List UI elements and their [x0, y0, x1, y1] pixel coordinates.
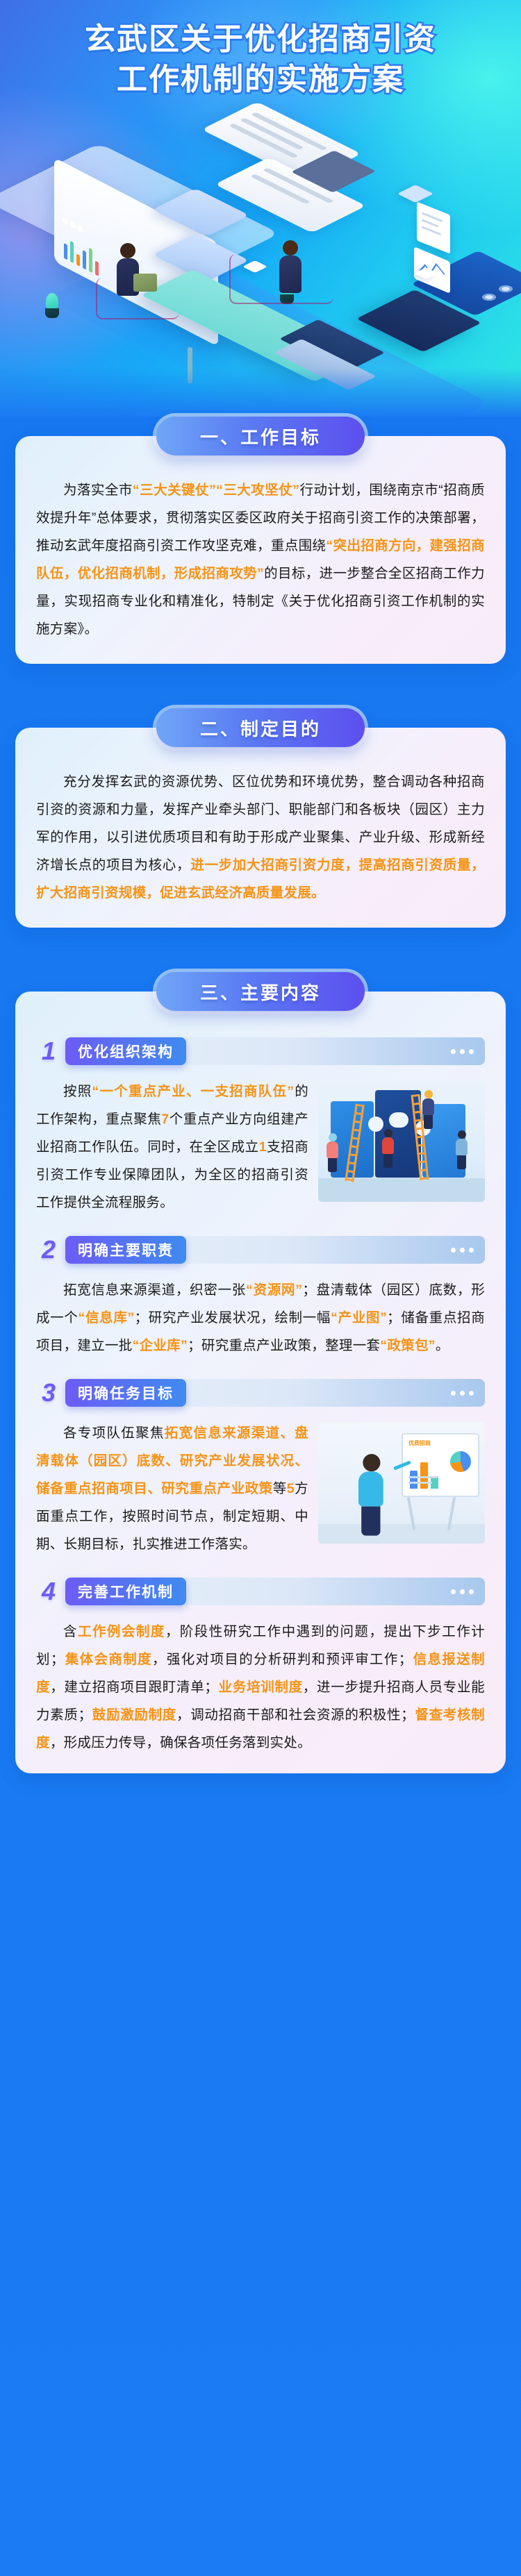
i4-text-6: ，调动招商干部和社会资源的积极性； [176, 1707, 415, 1723]
i2-highlight-1: “资源网” [246, 1282, 302, 1298]
team-figure-2 [382, 1129, 394, 1168]
i1-highlight-1: “一个重点产业、一支招商队伍” [92, 1084, 295, 1099]
sub-item-1-header: 1 优化组织架构 [36, 1036, 485, 1067]
section-banner-label-3: 三、主要内容 [200, 979, 321, 1005]
sub-item-2-bar: 明确主要职责 [65, 1236, 485, 1264]
i2-highlight-3: “产业图” [331, 1310, 387, 1325]
section-work-goals: 一、工作目标 为落实全市“三大关键仗”“三大攻坚仗”行动计划，围绕南京市“招商质… [0, 417, 521, 664]
sub-item-2-paragraph: 拓宽信息来源渠道，织密一张“资源网”；盘清载体（园区）底数，形成一个“信息库”；… [36, 1276, 485, 1360]
sub-item-3: 3 明确任务目标 优质招商 [36, 1378, 485, 1558]
iso-plant-1 [43, 293, 61, 318]
i3-text-2: 等 [273, 1481, 287, 1496]
i4-highlight-2: 集体会商制度 [65, 1652, 152, 1667]
i4-text-3: ，强化对项目的分析研判和预评审工作； [152, 1652, 413, 1667]
team-figure-1 [326, 1133, 338, 1172]
i4-text-4: ，建立招商项目跟盯清单； [50, 1680, 218, 1695]
i4-text-7: ，形成压力传导，确保各项任务落到实处。 [50, 1735, 311, 1750]
i1-number-7: 7 [161, 1112, 169, 1127]
team-figure-4 [456, 1130, 468, 1169]
three-dots-icon-1 [451, 1049, 474, 1054]
three-dots-icon-4 [451, 1589, 474, 1594]
sub-item-2-body: 拓宽信息来源渠道，织密一张“资源网”；盘清载体（园区）底数，形成一个“信息库”；… [36, 1276, 485, 1360]
page-title: 玄武区关于优化招商引资 工作机制的实施方案 [0, 19, 521, 100]
sub-item-1-number: 1 [36, 1036, 61, 1067]
section-main-content: 三、主要内容 1 优化组织架构 [0, 972, 521, 1773]
s1-text-1: 为落实全市 [63, 483, 133, 498]
section-banner-2: 二、制定目的 [156, 708, 365, 747]
sub-item-3-number: 3 [36, 1378, 61, 1408]
sub-item-4-paragraph: 含工作例会制度，阶段性研究工作中遇到的问题，提出下步工作计划；集体会商制度，强化… [36, 1618, 485, 1757]
i4-highlight-1: 工作例会制度 [78, 1624, 165, 1639]
i2-highlight-2: “信息库” [78, 1310, 135, 1325]
chart-board: 优质招商 [402, 1433, 479, 1497]
iso-connector-wire-2 [229, 254, 333, 304]
section-banner-1: 一、工作目标 [156, 417, 365, 455]
sub-item-1-bar: 优化组织架构 [65, 1037, 485, 1065]
sub-item-3-body: 优质招商 [36, 1419, 485, 1558]
sub-item-3-title: 明确任务目标 [65, 1379, 186, 1407]
section-2-paragraph: 充分发挥玄武的资源优势、区位优势和环境优势，整合调动各种招商引资的资源和力量，发… [36, 768, 485, 907]
section-panel-1: 为落实全市“三大关键仗”“三大攻坚仗”行动计划，围绕南京市“招商质效提升年”总体… [15, 436, 506, 664]
iso-connector-wire-1 [96, 278, 179, 319]
sub-item-2-title: 明确主要职责 [65, 1236, 186, 1264]
sub-item-1-body: 按照“一个重点产业、一支招商队伍”的工作架构，重点聚焦7个重点产业方向组建产业招… [36, 1078, 485, 1216]
section-1-paragraph: 为落实全市“三大关键仗”“三大攻坚仗”行动计划，围绕南京市“招商质效提升年”总体… [36, 476, 485, 643]
i1-text-1: 按照 [63, 1084, 92, 1099]
sub-item-2-number: 2 [36, 1235, 61, 1265]
pie-chart-icon [450, 1451, 471, 1472]
team-figure-3 [422, 1090, 434, 1129]
spacer-2 [0, 928, 521, 972]
infographic-page: 玄武区关于优化招商引资 工作机制的实施方案 [0, 0, 521, 2576]
section-panel-2: 充分发挥玄武的资源优势、区位优势和环境优势，整合调动各种招商引资的资源和力量，发… [15, 728, 506, 928]
hero-bottom-fade [0, 368, 521, 417]
s1-highlight-2: “三大攻坚仗” [216, 483, 299, 498]
sub-item-3-bar: 明确任务目标 [65, 1379, 485, 1407]
sub-item-4-body: 含工作例会制度，阶段性研究工作中遇到的问题，提出下步工作计划；集体会商制度，强化… [36, 1618, 485, 1757]
i2-text-3: ；研究产业发展状况，绘制一幅 [135, 1310, 331, 1325]
sub-item-1-title: 优化组织架构 [65, 1037, 186, 1065]
i2-highlight-5: “政策包” [380, 1338, 436, 1353]
i2-text-1: 拓宽信息来源渠道，织密一张 [63, 1282, 246, 1298]
iso-note-card [417, 201, 450, 253]
presenter-figure [358, 1454, 383, 1536]
puzzle-ladder-team-icon [318, 1080, 485, 1202]
sub-item-4-bar: 完善工作机制 [65, 1578, 485, 1605]
i2-text-6: 。 [436, 1338, 449, 1353]
presenter-chart-board-icon: 优质招商 [318, 1422, 485, 1544]
iso-cube-1 [397, 185, 433, 203]
i4-highlight-5: 鼓励激励制度 [92, 1707, 176, 1723]
title-line-1: 玄武区关于优化招商引资 [0, 19, 521, 60]
section-banner-3: 三、主要内容 [156, 972, 365, 1011]
sub-item-3-header: 3 明确任务目标 [36, 1378, 485, 1408]
sub-item-4-number: 4 [36, 1576, 61, 1607]
sub-item-2: 2 明确主要职责 拓宽信息来源渠道，织密一张“资源网”；盘清载体（园区）底数，形… [36, 1235, 485, 1360]
section-banner-label-2: 二、制定目的 [200, 715, 321, 741]
title-line-2: 工作机制的实施方案 [0, 60, 521, 100]
hero-banner: 玄武区关于优化招商引资 工作机制的实施方案 [0, 0, 521, 417]
section-purpose: 二、制定目的 充分发挥玄武的资源优势、区位优势和环境优势，整合调动各种招商引资的… [0, 708, 521, 928]
s1-highlight-1: “三大关键仗” [133, 483, 216, 498]
i2-text-5: ；研究重点产业政策，整理一套 [188, 1338, 380, 1353]
three-dots-icon-2 [451, 1248, 474, 1253]
i4-highlight-4: 业务培训制度 [218, 1680, 303, 1695]
i2-highlight-4: “企业库” [133, 1338, 188, 1353]
sub-item-4-header: 4 完善工作机制 [36, 1576, 485, 1607]
section-banner-label-1: 一、工作目标 [200, 424, 321, 449]
section-panel-3: 1 优化组织架构 [15, 992, 506, 1773]
sub-item-2-header: 2 明确主要职责 [36, 1235, 485, 1265]
i3-text-1: 各专项队伍聚焦 [63, 1425, 165, 1441]
spacer-1 [0, 664, 521, 708]
i1-number-1: 1 [259, 1139, 267, 1155]
i4-text-1: 含 [63, 1624, 78, 1639]
three-dots-icon-3 [451, 1391, 474, 1396]
footer-spacer [0, 1773, 521, 1801]
i3-number-5: 5 [287, 1481, 295, 1496]
sub-item-1: 1 优化组织架构 [36, 1036, 485, 1216]
sub-item-4: 4 完善工作机制 含工作例会制度，阶段性研究工作中遇到的问题，提出下步工作计划；… [36, 1576, 485, 1757]
sub-item-4-title: 完善工作机制 [65, 1578, 186, 1605]
